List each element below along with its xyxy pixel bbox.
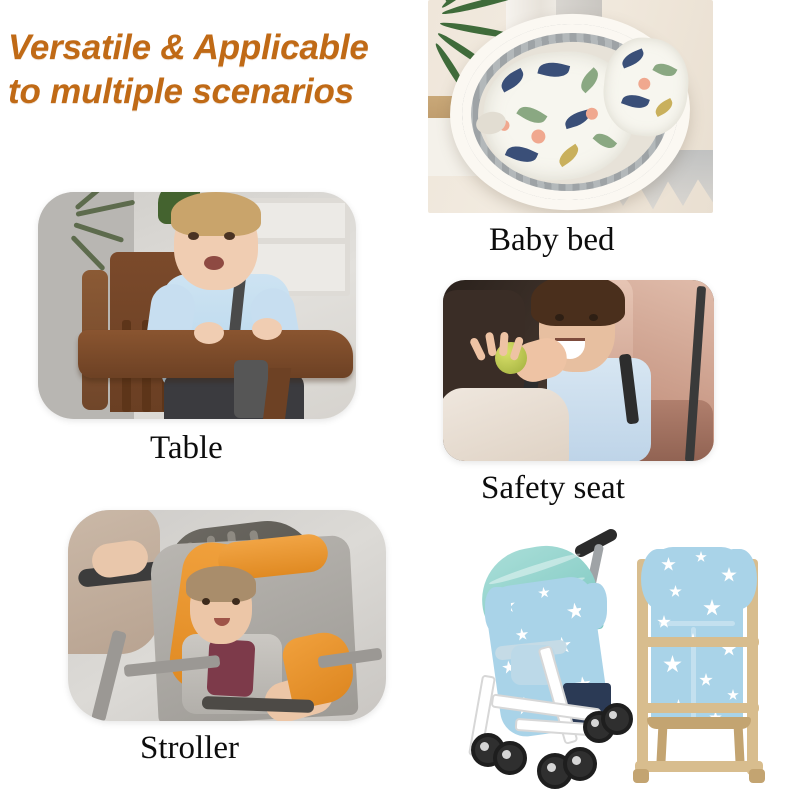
child-right-hand <box>252 318 282 340</box>
stroller-wheel-6 <box>601 703 633 735</box>
scenario-card-table <box>38 192 356 419</box>
promo-banner: Versatile & Applicable to multiple scena… <box>0 0 800 800</box>
child-hair <box>186 566 256 602</box>
baby-bed-photo <box>428 0 713 213</box>
scenario-card-stroller <box>68 510 386 721</box>
blanket <box>443 388 569 461</box>
child-curly-hair <box>531 280 625 326</box>
child-right-eye <box>589 314 598 321</box>
scenario-card-safety-seat <box>443 280 714 461</box>
child-left-eye <box>188 232 199 240</box>
stroller-wheel-hub-2 <box>502 750 511 759</box>
stroller-wheel-hub-6 <box>609 711 617 719</box>
stroller-wheel-hub-3 <box>547 763 556 772</box>
child-hand <box>479 332 519 378</box>
stroller-wheel-hub-1 <box>480 742 489 751</box>
stroller-wheel-hub-4 <box>572 756 581 765</box>
table-photo <box>38 192 356 419</box>
child-mouth <box>204 256 224 270</box>
caption-table: Table <box>150 430 223 466</box>
product-lineup-photo <box>455 525 785 795</box>
stroller-photo <box>68 510 386 721</box>
chair-foot-left <box>633 769 649 783</box>
child-bib <box>207 639 256 697</box>
child-left-eye <box>202 598 210 605</box>
stroller-wheel-4 <box>563 747 597 781</box>
child-right-eye <box>232 598 240 605</box>
chair-foot-right <box>749 769 765 783</box>
child-left-eye <box>555 314 564 321</box>
chair-footrest <box>647 717 751 729</box>
child-hair <box>171 192 261 236</box>
chair-cross-bar-mid <box>639 703 759 713</box>
cushion-wing-left <box>485 587 511 633</box>
stroller-wheel-hub-5 <box>591 719 599 727</box>
harness-buckle <box>234 360 268 418</box>
page-title: Versatile & Applicable to multiple scena… <box>8 26 428 114</box>
caption-stroller: Stroller <box>140 730 239 766</box>
headline-line-2: to multiple scenarios <box>8 70 428 114</box>
child-right-eye <box>224 232 235 240</box>
chair-cross-bar-upper <box>639 637 759 647</box>
child-left-hand <box>194 322 224 344</box>
caption-safety-seat: Safety seat <box>481 470 625 506</box>
headline-line-1: Versatile & Applicable <box>8 28 369 67</box>
scenario-card-baby-bed <box>428 0 713 213</box>
cushion-wing-right <box>581 583 607 629</box>
caption-baby-bed: Baby bed <box>489 222 615 258</box>
stroller-wheel-2 <box>493 741 527 775</box>
safety-seat-photo <box>443 280 714 461</box>
chair-base-bar <box>635 761 763 772</box>
